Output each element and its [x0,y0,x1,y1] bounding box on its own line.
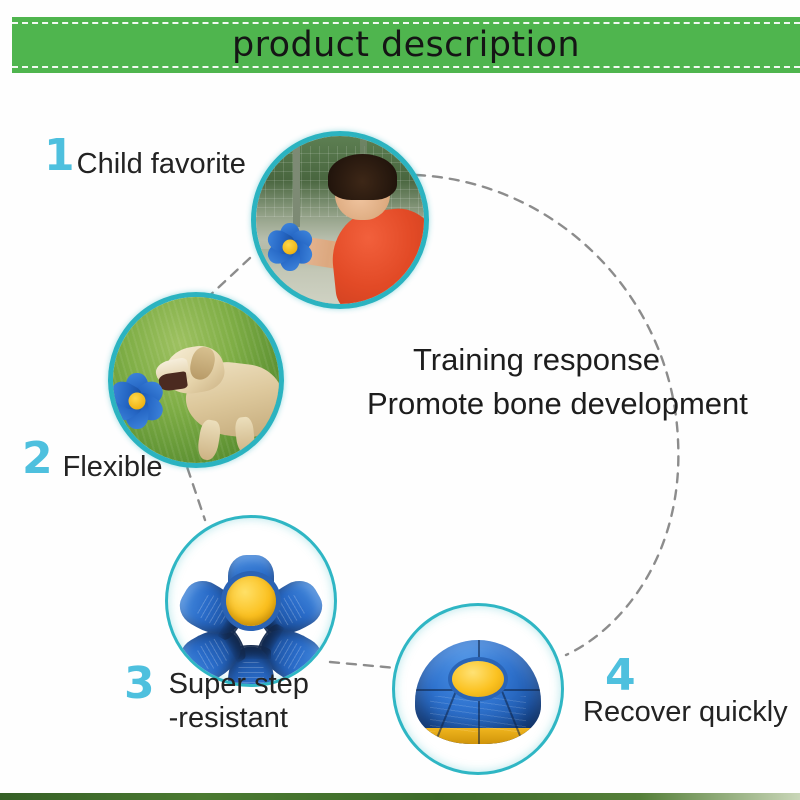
flying-disc-ball-icon [108,370,168,432]
page-title: product description [232,25,580,65]
step-label-3: 3 Super step -resistant [124,663,309,735]
banner-dashed-line-top [12,22,800,24]
step-text-3: Super step -resistant [169,667,309,735]
step-label-4: 4 Recover quickly [605,655,788,729]
headline-text: Training response Promote bone developme… [367,338,748,426]
headline-line-2: Promote bone development [367,382,748,426]
step-text-1: Child favorite [77,147,246,181]
step-image-super-step-resistant [165,515,337,687]
flying-disc-ball-icon [263,220,317,274]
headline-line-1: Training response [367,338,748,382]
fence-post [293,139,300,226]
step-text-3-line1: Super step [169,668,309,700]
step-text-4: Recover quickly [583,695,788,729]
product-description-infographic: product description [0,0,800,800]
step-label-1: 1 Child favorite [44,135,246,181]
step-text-3-line2: -resistant [169,701,309,735]
step-image-child-favorite [251,131,429,309]
boy-photo-scene [256,136,424,304]
step-number-3: 3 [124,663,155,705]
ball-center-hub [452,661,504,697]
boy-red-shirt [328,205,429,309]
connector-3-to-4 [330,662,396,668]
step-number-4: 4 [605,655,636,697]
step-number-1: 1 [44,135,75,177]
step-number-2: 2 [22,438,53,480]
bottom-green-strip [0,793,800,800]
disc-center-hub [226,576,276,626]
step-label-2: 2 Flexible [22,438,163,484]
step-image-recover-quickly [392,603,564,775]
banner-dashed-line-bottom [12,66,800,68]
ball-form-illustration [415,640,541,744]
header-banner: product description [12,17,800,73]
boy-hair [328,154,397,199]
step-text-2: Flexible [63,450,163,484]
